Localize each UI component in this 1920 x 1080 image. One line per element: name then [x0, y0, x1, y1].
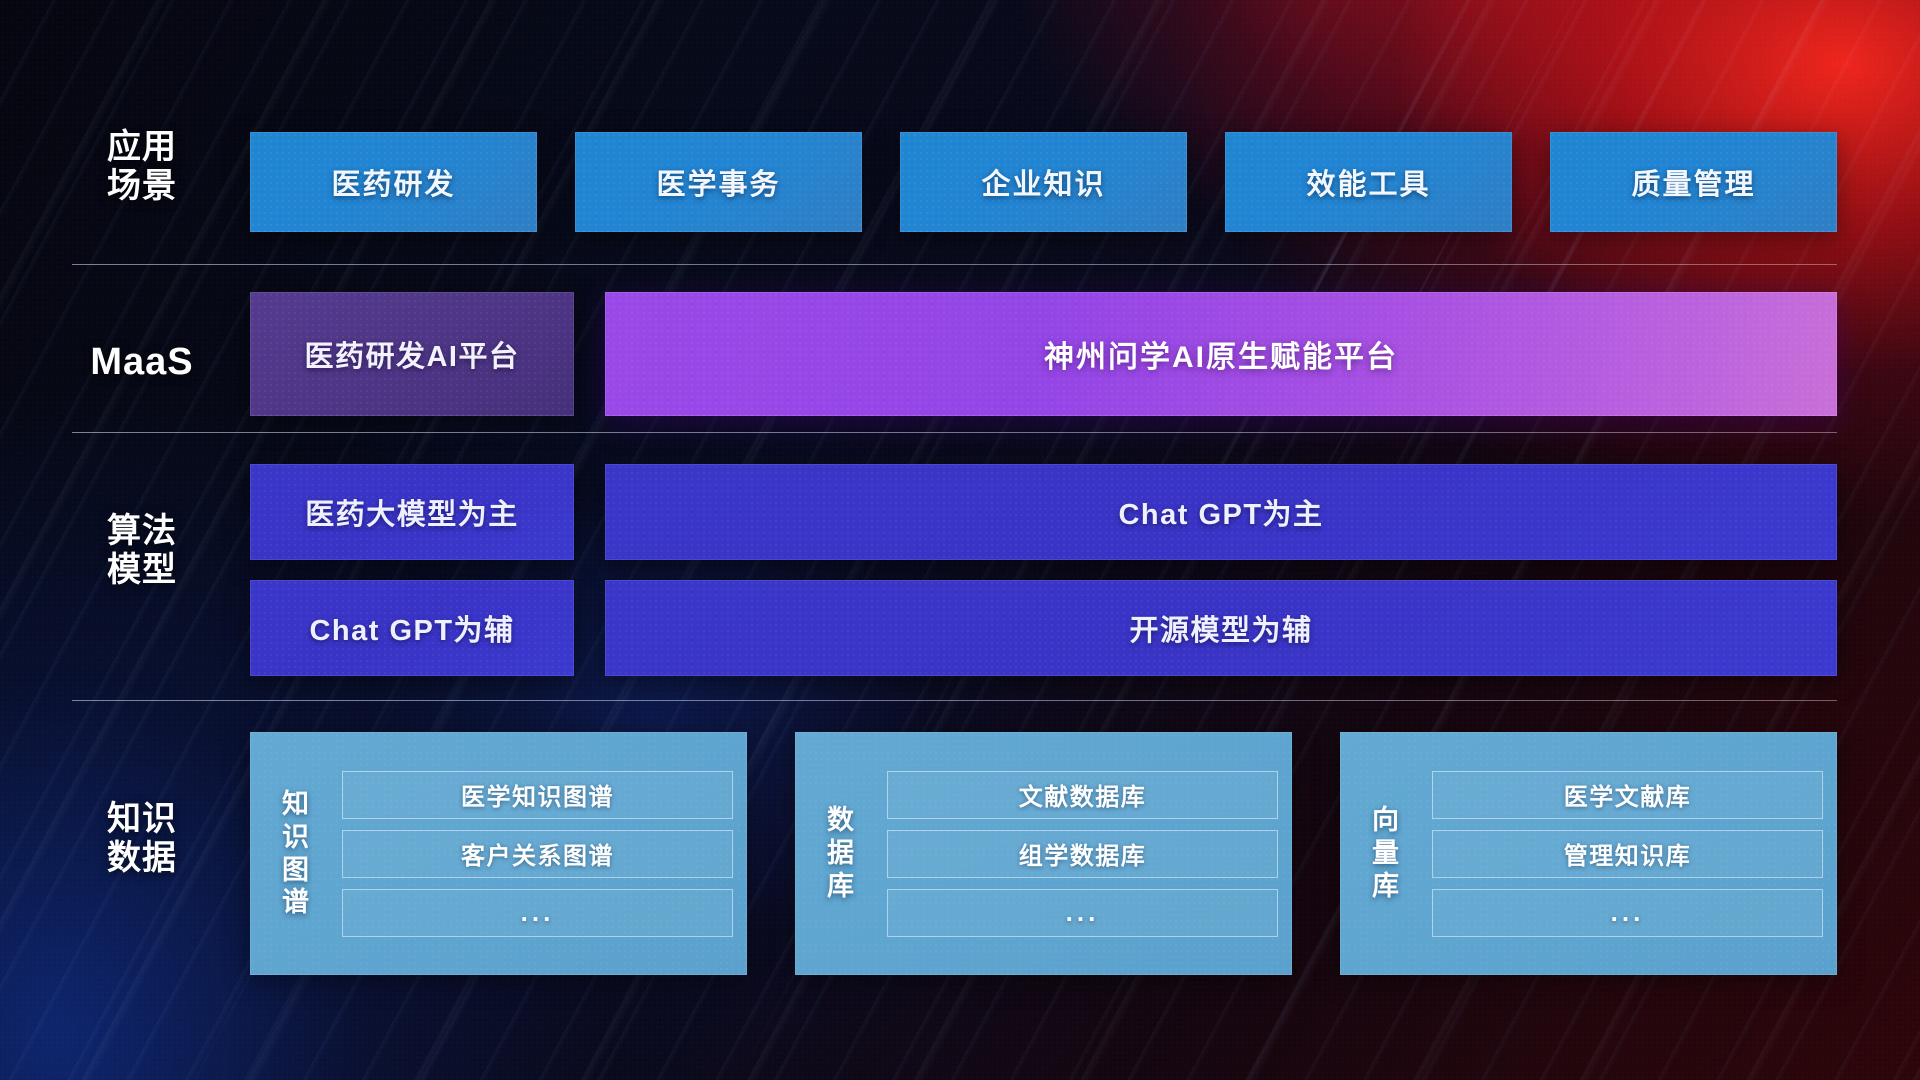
- knowledge-group-items: 文献数据库 组学数据库 ...: [887, 744, 1278, 963]
- divider-after-algorithm-models: [72, 700, 1837, 701]
- knowledge-item[interactable]: 医学文献库: [1432, 771, 1823, 819]
- row-label-maas: MaaS: [72, 340, 212, 384]
- app-box-medicine-rd[interactable]: 医药研发: [250, 132, 537, 232]
- algo-box-chatgpt-secondary[interactable]: Chat GPT为辅: [250, 580, 574, 676]
- knowledge-item[interactable]: 客户关系图谱: [342, 830, 733, 878]
- knowledge-item-more[interactable]: ...: [342, 889, 733, 937]
- knowledge-group-title: 向量库: [1340, 744, 1432, 963]
- algo-box-medicine-large-model-primary[interactable]: 医药大模型为主: [250, 464, 574, 560]
- knowledge-item-more[interactable]: ...: [887, 889, 1278, 937]
- app-box-enterprise-knowledge[interactable]: 企业知识: [900, 132, 1187, 232]
- divider-after-application-scenarios: [72, 264, 1837, 265]
- knowledge-group-title: 知识图谱: [250, 744, 342, 963]
- knowledge-item[interactable]: 文献数据库: [887, 771, 1278, 819]
- app-box-efficiency-tools[interactable]: 效能工具: [1225, 132, 1512, 232]
- knowledge-group-title: 数据库: [795, 744, 887, 963]
- maas-box-shenzhou-wenxue-platform[interactable]: 神州问学AI原生赋能平台: [605, 292, 1837, 416]
- app-box-medical-affairs[interactable]: 医学事务: [575, 132, 862, 232]
- knowledge-group-knowledge-graph[interactable]: 知识图谱 医学知识图谱 客户关系图谱 ...: [250, 732, 747, 975]
- knowledge-group-items: 医学知识图谱 客户关系图谱 ...: [342, 744, 733, 963]
- knowledge-item[interactable]: 管理知识库: [1432, 830, 1823, 878]
- maas-box-medicine-ai-platform[interactable]: 医药研发AI平台: [250, 292, 574, 416]
- knowledge-item[interactable]: 组学数据库: [887, 830, 1278, 878]
- knowledge-item-more[interactable]: ...: [1432, 889, 1823, 937]
- row-label-algorithm-models: 算法 模型: [72, 512, 212, 591]
- knowledge-group-database[interactable]: 数据库 文献数据库 组学数据库 ...: [795, 732, 1292, 975]
- divider-after-maas: [72, 432, 1837, 433]
- knowledge-group-items: 医学文献库 管理知识库 ...: [1432, 744, 1823, 963]
- app-box-quality-management[interactable]: 质量管理: [1550, 132, 1837, 232]
- diagram-canvas: 应用 场景 医药研发 医学事务 企业知识 效能工具 质量管理 MaaS 医药研发…: [0, 0, 1920, 1080]
- row-label-knowledge-data: 知识 数据: [72, 800, 212, 879]
- algo-box-chatgpt-primary[interactable]: Chat GPT为主: [605, 464, 1837, 560]
- architecture-grid: 应用 场景 医药研发 医学事务 企业知识 效能工具 质量管理 MaaS 医药研发…: [0, 0, 1920, 1080]
- row-label-application-scenarios: 应用 场景: [72, 128, 212, 207]
- knowledge-item[interactable]: 医学知识图谱: [342, 771, 733, 819]
- knowledge-group-vector-store[interactable]: 向量库 医学文献库 管理知识库 ...: [1340, 732, 1837, 975]
- algo-box-opensource-secondary[interactable]: 开源模型为辅: [605, 580, 1837, 676]
